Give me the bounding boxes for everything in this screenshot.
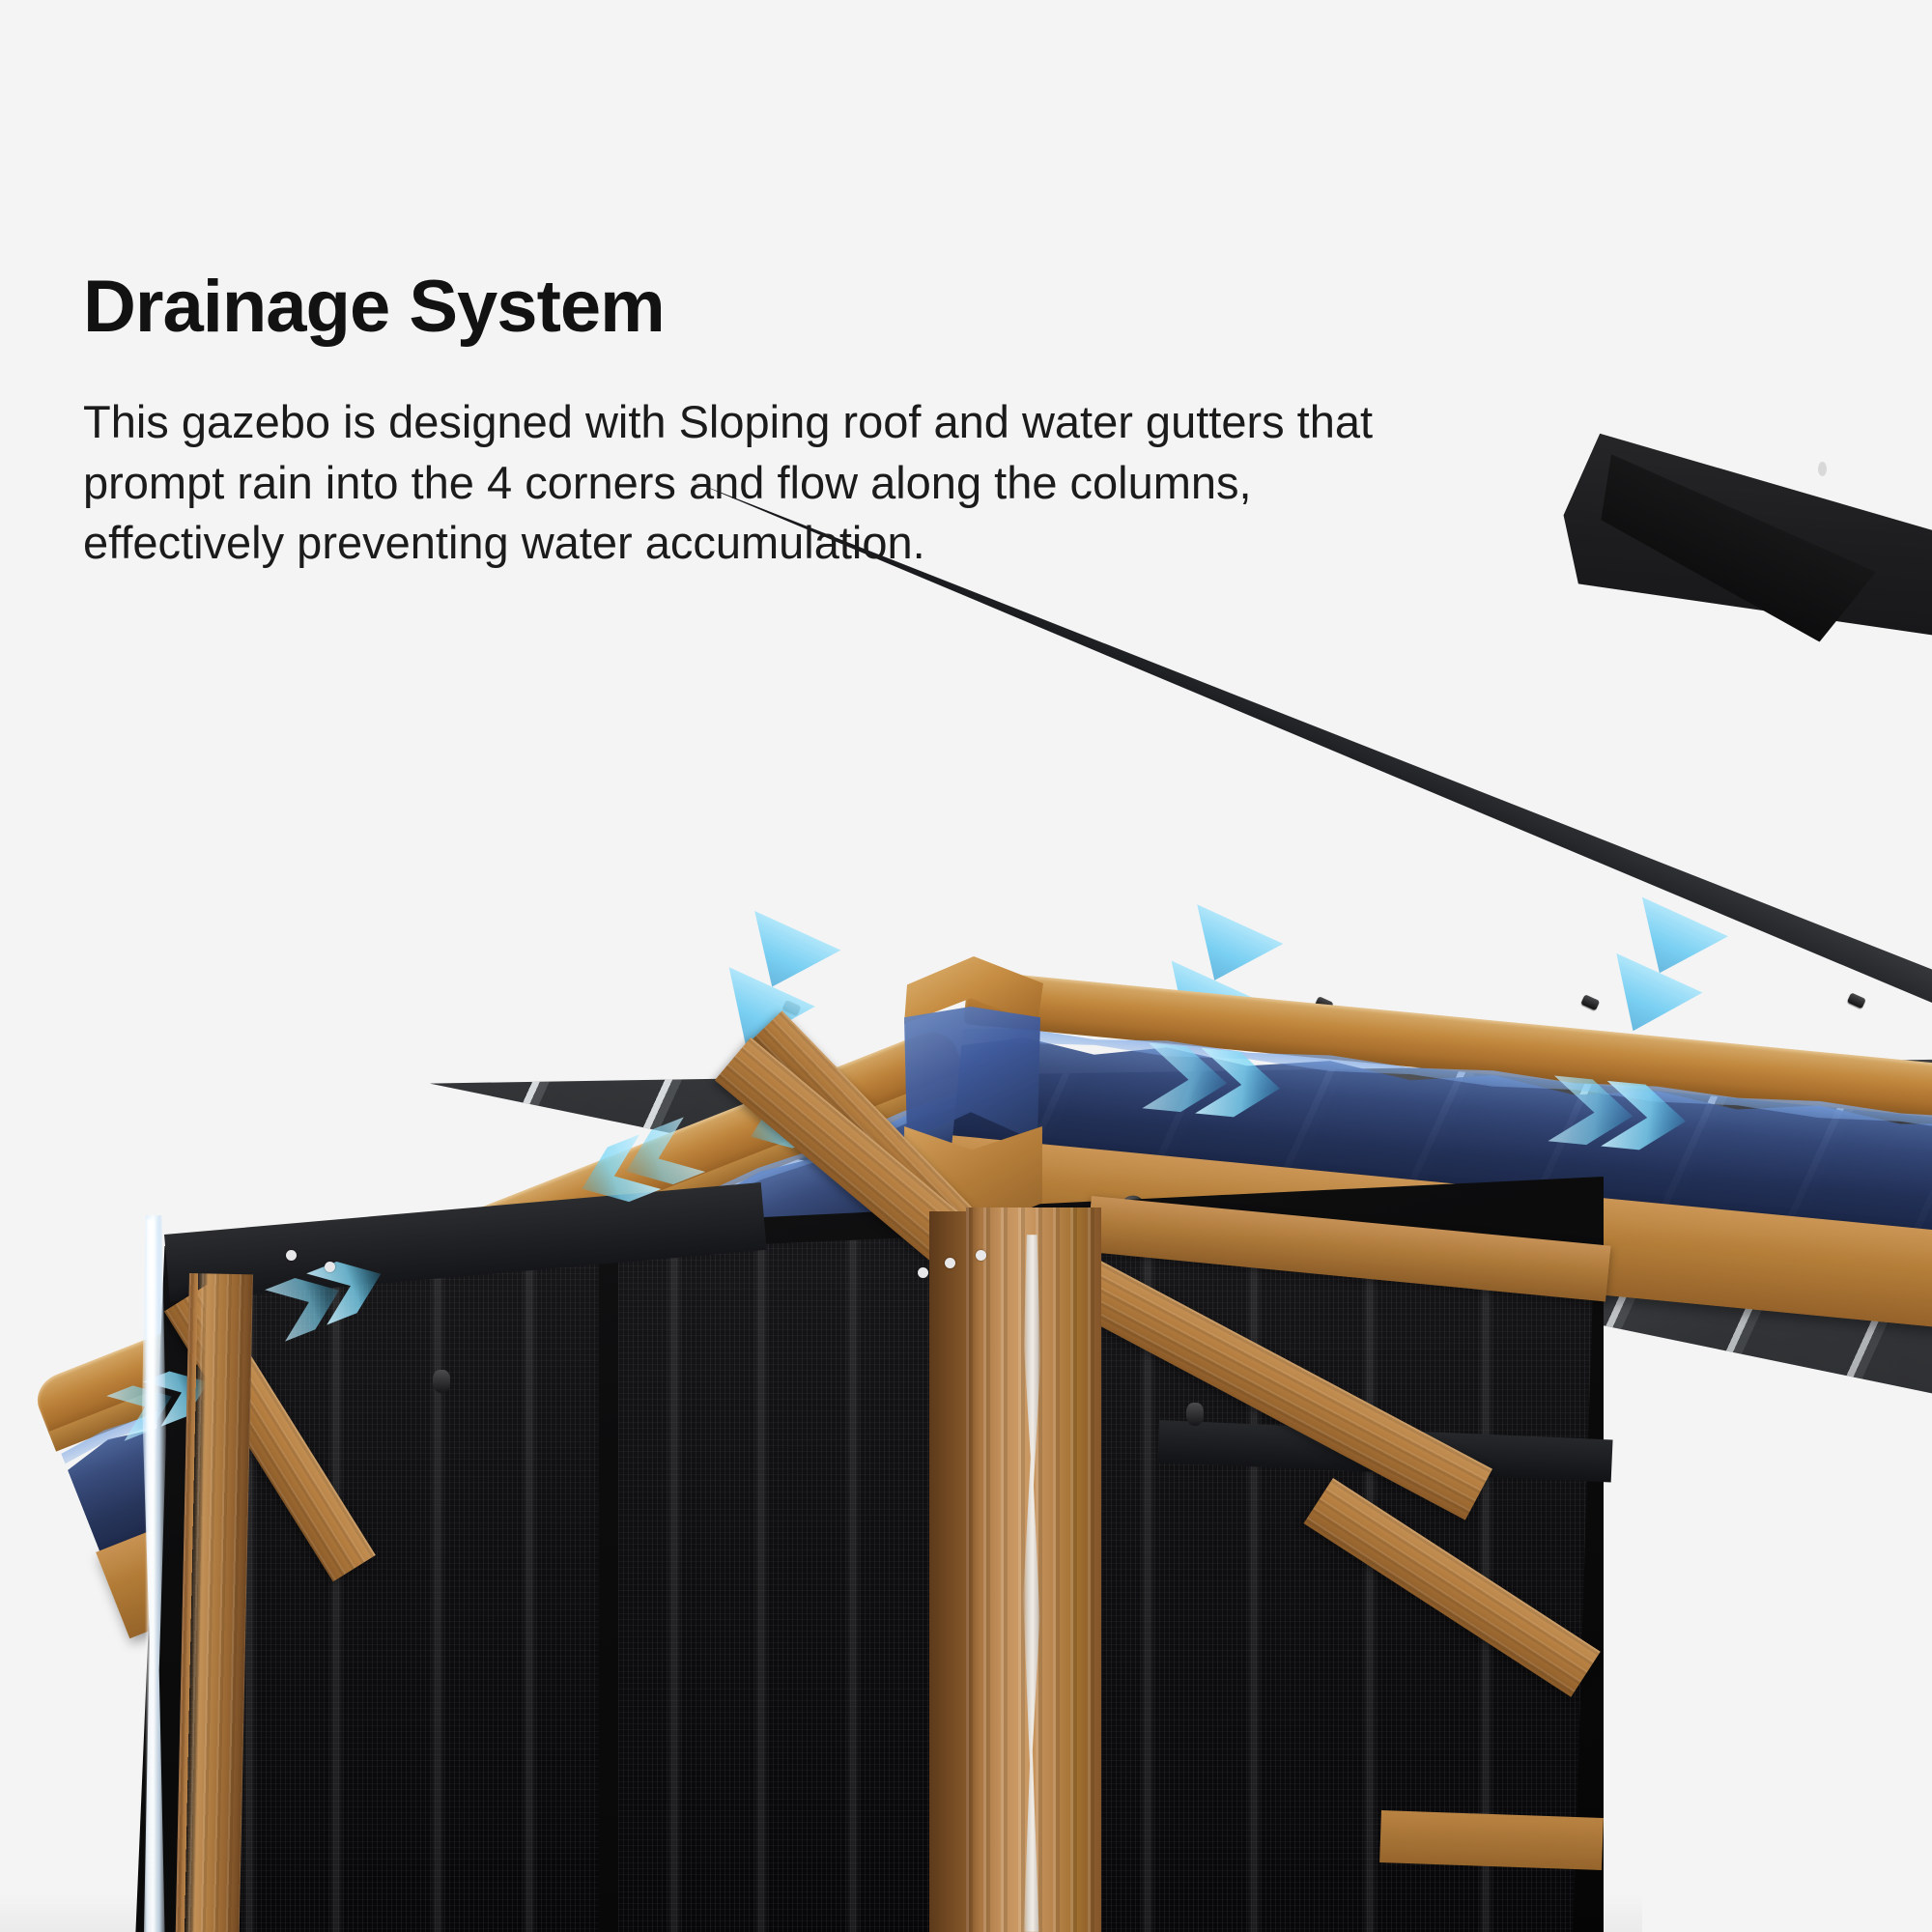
curtain-attachment-dot <box>945 1258 955 1268</box>
curtain-fold <box>430 1256 445 1932</box>
roof-screw <box>1580 994 1600 1010</box>
roof-screw <box>1847 992 1866 1009</box>
curtain-attachment-dot <box>976 1250 986 1261</box>
product-feature-card: Drainage System This gazebo is designed … <box>0 0 1932 1932</box>
curtain-attachment-dot <box>286 1250 297 1261</box>
curtain-fold <box>667 1236 682 1932</box>
ridge-screw <box>1818 462 1827 476</box>
corner-water-overlay <box>898 1007 1043 1142</box>
curtain-fold <box>753 1236 769 1932</box>
interior-screw <box>1186 1403 1204 1426</box>
mesh-curtain <box>618 1236 937 1932</box>
curtain-attachment-dot <box>325 1262 335 1272</box>
water-stream-highlight <box>147 1219 155 1932</box>
description-line-2: prompt rain into the 4 corners and flow … <box>83 453 1223 514</box>
curtain-fold <box>845 1236 861 1932</box>
wood-rail <box>1379 1810 1604 1870</box>
curtain-fold <box>328 1256 344 1932</box>
page-title: Drainage System <box>83 270 1223 344</box>
curtain-attachment-dot <box>918 1267 928 1278</box>
interior-screw <box>433 1370 450 1393</box>
curtain-fold <box>1362 1227 1378 1932</box>
description-line-3: effectively preventing water accumulatio… <box>83 513 1223 574</box>
curtain-fold <box>522 1256 537 1932</box>
description-line-1: This gazebo is designed with Sloping roo… <box>83 392 1223 453</box>
feature-text-block: Drainage System This gazebo is designed … <box>83 270 1223 574</box>
curtain-fold <box>1246 1227 1262 1932</box>
feature-description: This gazebo is designed with Sloping roo… <box>83 392 1223 574</box>
